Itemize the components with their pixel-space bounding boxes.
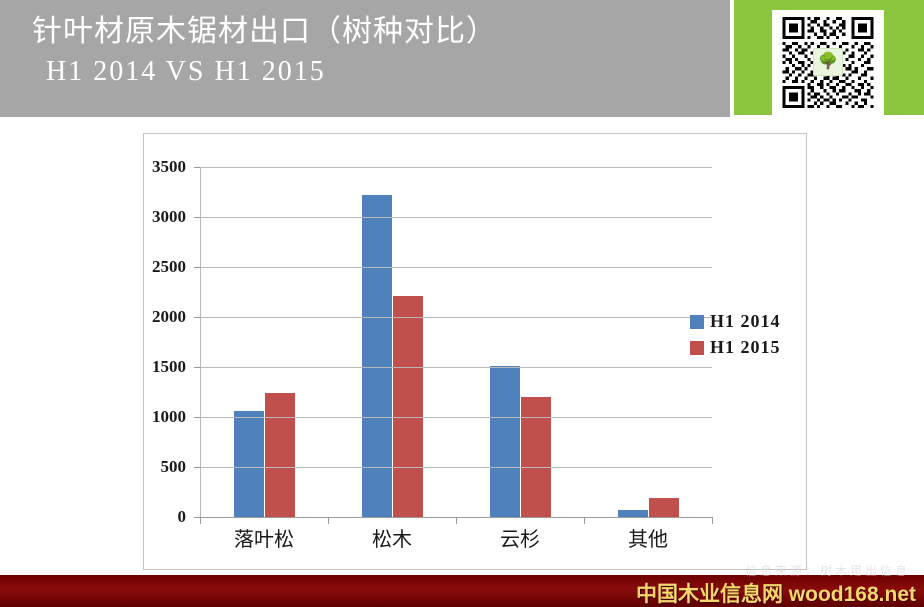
y-axis-tick-label: 500 (161, 457, 187, 477)
gridline (200, 267, 712, 268)
x-axis-tick (712, 517, 713, 524)
y-axis-tick (194, 417, 200, 418)
page-subtitle: H1 2014 VS H1 2015 (46, 55, 497, 88)
bar-其他-H1-2015 (649, 498, 679, 517)
legend-label: H1 2014 (710, 311, 781, 332)
y-axis-tick-label: 2500 (152, 257, 186, 277)
bar-松木-H1-2014 (362, 195, 392, 517)
gridline (200, 467, 712, 468)
y-axis-tick-label: 3000 (152, 207, 186, 227)
y-axis-labels: 0500100015002000250030003500 (144, 160, 196, 517)
qr-code-pattern: 🌳 (779, 17, 877, 108)
legend-swatch-icon (690, 315, 704, 329)
footer-ghost-text: 信息来源：树木用出信息 (745, 562, 910, 579)
bar-松木-H1-2015 (393, 296, 423, 517)
chart-legend: H1 2014H1 2015 (690, 311, 781, 363)
gridline (200, 417, 712, 418)
y-axis-tick (194, 267, 200, 268)
gridline (200, 367, 712, 368)
x-axis-label-其他: 其他 (628, 523, 668, 552)
bar-落叶松-H1-2014 (234, 411, 264, 517)
gridline (200, 167, 712, 168)
y-axis-tick (194, 217, 200, 218)
y-axis-tick (194, 367, 200, 368)
y-axis-tick (194, 467, 200, 468)
bar-云杉-H1-2014 (490, 366, 520, 517)
bar-云杉-H1-2015 (521, 397, 551, 517)
footer-watermark-bar: 信息来源：树木用出信息 中国木业信息网 wood168.net (0, 575, 924, 607)
legend-item-H1-2015: H1 2015 (690, 337, 781, 358)
footer-watermark-text: 中国木业信息网 wood168.net (636, 578, 916, 607)
gridline (200, 217, 712, 218)
plot-area (200, 167, 712, 517)
x-axis-label-云杉: 云杉 (500, 523, 540, 552)
y-axis-tick (194, 317, 200, 318)
legend-label: H1 2015 (710, 337, 781, 358)
chart-container: 0500100015002000250030003500 落叶松松木云杉其他 H… (143, 133, 807, 570)
legend-swatch-icon (690, 341, 704, 355)
qr-code: 🌳 (772, 10, 884, 115)
bar-落叶松-H1-2015 (265, 393, 295, 517)
header-title-group: 针叶材原木锯材出口（树种对比） H1 2014 VS H1 2015 (32, 14, 497, 88)
qr-center-logo-icon: 🌳 (813, 48, 843, 76)
legend-item-H1-2014: H1 2014 (690, 311, 781, 332)
page-title: 针叶材原木锯材出口（树种对比） (32, 14, 497, 49)
y-axis-tick-label: 3500 (152, 157, 186, 177)
y-axis-tick (194, 167, 200, 168)
y-axis-tick-label: 1500 (152, 357, 186, 377)
bar-其他-H1-2014 (618, 510, 648, 517)
bar-group-container (200, 167, 712, 517)
y-axis-tick-label: 0 (178, 507, 187, 527)
slide-page: 针叶材原木锯材出口（树种对比） H1 2014 VS H1 2015 (0, 0, 924, 607)
x-axis-label-落叶松: 落叶松 (234, 523, 294, 552)
x-axis-label-松木: 松木 (372, 523, 412, 552)
gridline (200, 317, 712, 318)
y-axis-tick-label: 1000 (152, 407, 186, 427)
y-axis-tick-label: 2000 (152, 307, 186, 327)
x-axis-labels: 落叶松松木云杉其他 (200, 523, 712, 557)
